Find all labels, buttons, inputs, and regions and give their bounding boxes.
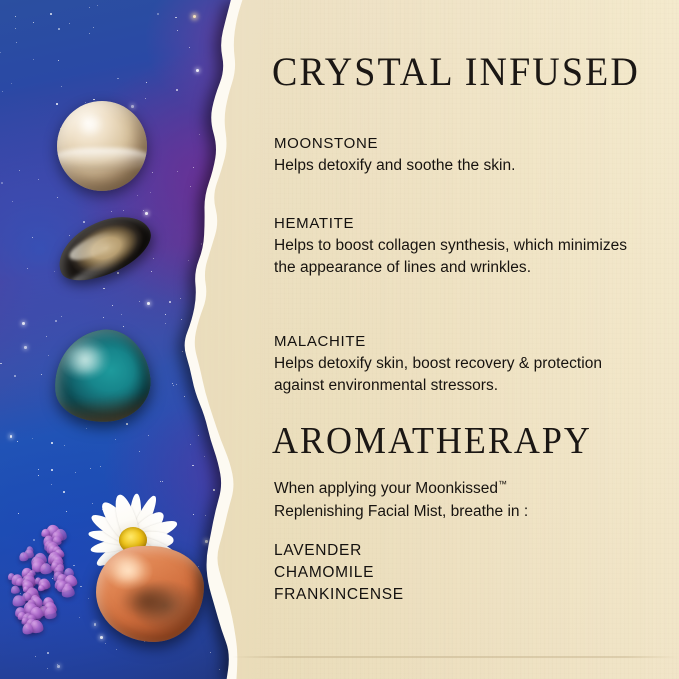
crystal-entry-malachite: MALACHITE Helps detoxify skin, boost rec…	[274, 333, 652, 397]
crystal-description-hematite: Helps to boost collagen synthesis, which…	[274, 235, 652, 279]
crystal-entry-hematite: HEMATITE Helps to boost collagen synthes…	[274, 215, 652, 279]
crystal-description-malachite: Helps detoxify skin, boost recovery & pr…	[274, 353, 652, 397]
crystal-description-moonstone: Helps detoxify and soothe the skin.	[274, 155, 652, 177]
scent-item-frankincense: FRANKINCENSE	[274, 584, 574, 606]
crystal-name-malachite: MALACHITE	[274, 333, 652, 352]
crystal-name-hematite: HEMATITE	[274, 215, 652, 234]
paper-content: CRYSTAL INFUSED MOONSTONE Helps detoxify…	[272, 0, 662, 679]
scent-list: LAVENDER CHAMOMILE FRANKINCENSE	[274, 540, 574, 606]
aromatherapy-intro-text: When applying your Moonkissed™ Replenish…	[274, 478, 644, 523]
scent-item-chamomile: CHAMOMILE	[274, 562, 574, 584]
page-title-crystal-infused: CRYSTAL INFUSED	[272, 52, 640, 92]
aromatherapy-intro-line-2: Replenishing Facial Mist, breathe in :	[274, 503, 528, 520]
scent-item-lavender: LAVENDER	[274, 540, 574, 562]
crystal-entry-moonstone: MOONSTONE Helps detoxify and soothe the …	[274, 135, 652, 177]
section-title-aromatherapy: AROMATHERAPY	[272, 421, 592, 459]
trademark-icon: ™	[498, 479, 507, 489]
aromatherapy-intro-line-1: When applying your Moonkissed	[274, 480, 498, 497]
crystal-name-moonstone: MOONSTONE	[274, 135, 652, 154]
product-info-panel: CRYSTAL INFUSED MOONSTONE Helps detoxify…	[0, 0, 679, 679]
